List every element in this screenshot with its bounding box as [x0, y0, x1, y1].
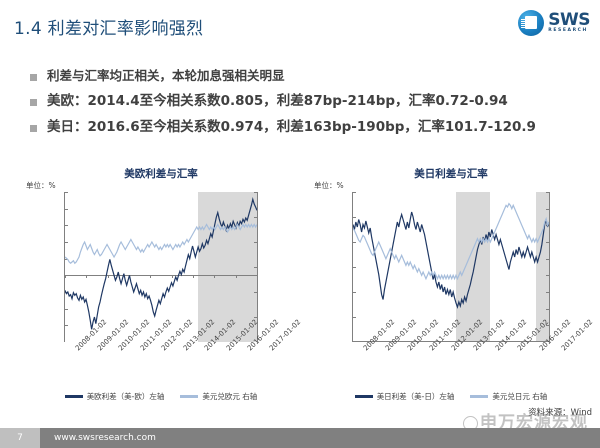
- footer-website[interactable]: www.swsresearch.com: [54, 433, 156, 443]
- sws-wordmark: SWS RESEARCH: [548, 12, 590, 34]
- chart-legend: 美欧利差（美-欧）左轴 美元兑欧元 右轴: [20, 391, 302, 402]
- series-line: [65, 225, 257, 264]
- legend-swatch-dark: [355, 395, 373, 398]
- legend-swatch-light: [180, 395, 198, 398]
- sws-logo-name: SWS: [548, 12, 590, 29]
- legend-item: 美元兑欧元 右轴: [180, 391, 257, 402]
- source-note: 资料来源：Wind: [528, 406, 592, 418]
- footer-bar: 7 www.swsresearch.com: [0, 428, 600, 448]
- legend-item: 美日利差（美-日）左轴: [355, 391, 455, 402]
- legend-swatch-dark: [65, 395, 83, 398]
- list-item: 利差与汇率均正相关，本轮加息强相关明显: [30, 68, 575, 84]
- chart-us-eu: 美欧利差与汇率 单位：% 2.5002.0001.5001.0000.5000.…: [20, 166, 302, 404]
- series-line: [353, 204, 549, 279]
- bullet-text: 美欧：2014.4至今相关系数0.805，利差87bp-214bp，汇率0.72…: [47, 93, 508, 110]
- chart-title: 美日利差与汇率: [308, 166, 594, 181]
- bullet-square-icon: [30, 74, 37, 81]
- x-axis-labels: 2008-01-022009-01-022010-01-022011-01-02…: [64, 318, 258, 368]
- legend-swatch-light: [470, 395, 488, 398]
- bullet-square-icon: [30, 99, 37, 106]
- x-axis-labels: 2008-01-022009-01-022010-01-022011-01-02…: [352, 318, 550, 368]
- page-title: 1.4 利差对汇率影响强烈: [14, 14, 203, 39]
- chart-unit-label: 单位：%: [314, 180, 344, 191]
- chart-us-jp: 美日利差与汇率 单位：% 3.002.502.001.501.000.500.0…: [308, 166, 594, 404]
- legend-item: 美欧利差（美-欧）左轴: [65, 391, 165, 402]
- bullet-square-icon: [30, 125, 37, 132]
- list-item: 美日：2016.6至今相关系数0.974，利差163bp-190bp，汇率101…: [30, 119, 575, 136]
- series-line: [353, 212, 549, 307]
- list-item: 美欧：2014.4至今相关系数0.805，利差87bp-214bp，汇率0.72…: [30, 93, 575, 110]
- chart-legend: 美日利差（美-日）左轴 美元兑日元 右轴: [308, 391, 594, 402]
- page-number: 7: [0, 428, 40, 448]
- series-line: [65, 199, 257, 329]
- x-axis-tick: [257, 275, 258, 278]
- sws-logo-icon: [518, 10, 544, 36]
- bullet-text: 利差与汇率均正相关，本轮加息强相关明显: [47, 68, 285, 84]
- legend-item: 美元兑日元 右轴: [470, 391, 547, 402]
- legend-label: 美欧利差（美-欧）左轴: [87, 391, 165, 402]
- sws-logo: SWS RESEARCH: [518, 10, 590, 36]
- legend-label: 美元兑日元 右轴: [492, 391, 547, 402]
- legend-label: 美元兑欧元 右轴: [202, 391, 257, 402]
- legend-label: 美日利差（美-日）左轴: [377, 391, 455, 402]
- bullet-list: 利差与汇率均正相关，本轮加息强相关明显 美欧：2014.4至今相关系数0.805…: [30, 68, 575, 144]
- sws-logo-subtitle: RESEARCH: [548, 29, 590, 34]
- bullet-text: 美日：2016.6至今相关系数0.974，利差163bp-190bp，汇率101…: [47, 119, 536, 136]
- chart-title: 美欧利差与汇率: [20, 166, 302, 181]
- chart-unit-label: 单位：%: [26, 180, 56, 191]
